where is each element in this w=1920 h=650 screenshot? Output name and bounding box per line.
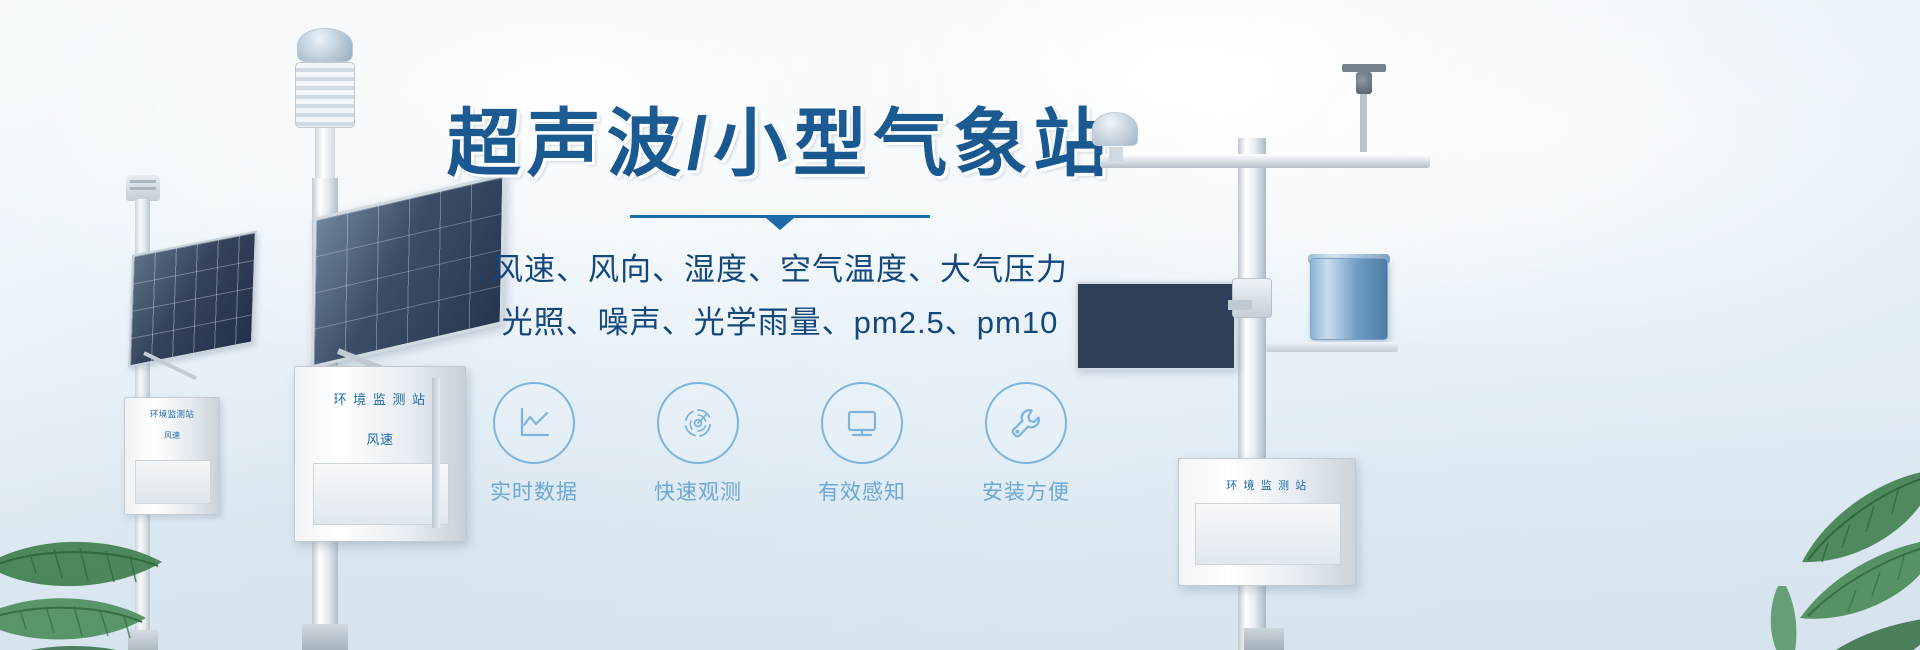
tropical-leaf-right-decoration xyxy=(1630,380,1920,650)
solar-panel xyxy=(128,230,257,367)
feature-list: 实时数据 xyxy=(430,382,1130,506)
wind-vane-blade xyxy=(1342,64,1386,72)
radiation-shield-sensor-icon xyxy=(126,175,160,201)
ultrasonic-wind-sensor-icon xyxy=(1092,112,1138,146)
radar-wave-icon xyxy=(676,401,720,445)
feature-item-fast-observation[interactable]: 快速观测 xyxy=(638,382,758,506)
panel-bracket xyxy=(1228,300,1252,310)
monitor-screen-icon xyxy=(840,401,884,445)
feature-icon-circle xyxy=(493,382,575,464)
feature-icon-circle xyxy=(985,382,1067,464)
line-chart-icon xyxy=(512,401,556,445)
product-photo-station-right: 环 境 监 测 站 xyxy=(1060,50,1480,650)
feature-item-realtime-data[interactable]: 实时数据 xyxy=(474,382,594,506)
promo-banner: 环境监测站 风速 环 境 监 测 站 风速 超声波/小型气象站 风速、风向、湿度… xyxy=(0,0,1920,650)
wind-vane-body xyxy=(1356,72,1372,94)
cabinet-door xyxy=(313,463,449,525)
subtitle-line-2: 光照、噪声、光学雨量、pm2.5、pm10 xyxy=(430,298,1130,348)
equipment-shelf xyxy=(1266,342,1398,352)
feature-label: 快速观测 xyxy=(638,476,758,506)
feature-item-effective-sensing[interactable]: 有效感知 xyxy=(802,382,922,506)
rain-gauge-cylinder xyxy=(1310,258,1388,340)
mast-clamp xyxy=(1232,278,1272,318)
feature-label: 实时数据 xyxy=(474,476,594,506)
feature-icon-circle xyxy=(657,382,739,464)
subtitle-line-1: 风速、风向、湿度、空气温度、大气压力 xyxy=(430,245,1130,295)
mast-base xyxy=(1244,628,1284,650)
triangle-down-icon xyxy=(766,218,794,230)
radiation-shield xyxy=(295,62,355,128)
page-title: 超声波/小型气象站 xyxy=(430,100,1130,187)
tropical-leaf-left-decoration xyxy=(0,430,240,650)
wrench-icon xyxy=(1004,401,1048,445)
feature-icon-circle xyxy=(821,382,903,464)
cabinet-label: 环 境 监 测 站 xyxy=(1179,477,1355,493)
feature-label: 有效感知 xyxy=(802,476,922,506)
cross-arm xyxy=(1100,154,1430,168)
solar-panel xyxy=(1076,282,1236,370)
title-divider xyxy=(630,215,930,229)
ultrasonic-wind-sensor-icon xyxy=(297,28,353,62)
banner-text-block: 超声波/小型气象站 风速、风向、湿度、空气温度、大气压力 光照、噪声、光学雨量、… xyxy=(430,100,1130,580)
pole-base xyxy=(302,624,348,650)
cabinet-label: 环境监测站 xyxy=(125,408,219,420)
cabinet-door xyxy=(1195,503,1341,565)
control-cabinet: 环 境 监 测 站 xyxy=(1178,458,1356,586)
sensor-neck xyxy=(315,128,335,180)
